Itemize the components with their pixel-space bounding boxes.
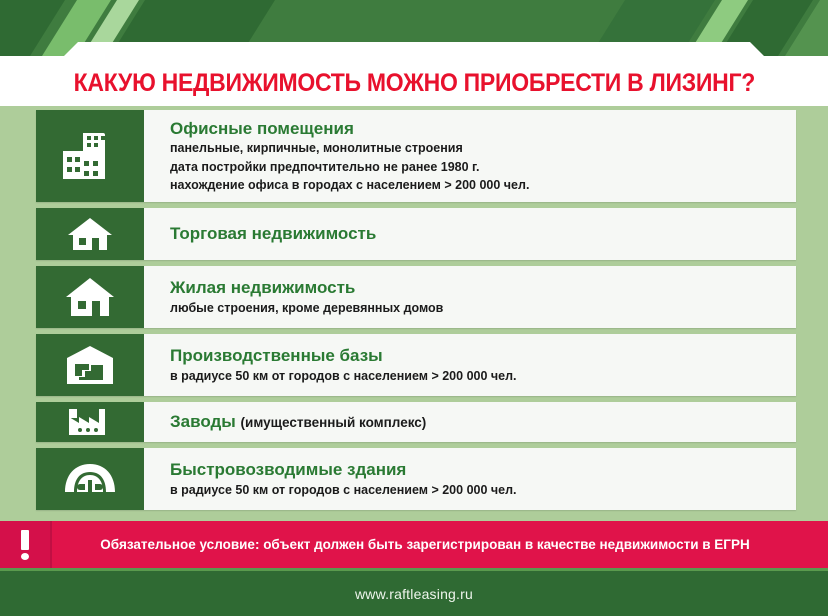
house-icon [36,208,144,260]
list-item[interactable]: Быстровозводимые здания в радиусе 50 км … [36,448,796,510]
list-item-title: Производственные базы [170,345,796,366]
list-item-text: Быстровозводимые здания в радиусе 50 км … [144,448,796,510]
list-item-detail: дата постройки предпочтительно не ранее … [170,158,796,176]
list-item-detail: в радиусе 50 км от городов с населением … [170,481,796,499]
list-item-title-main: Заводы [170,412,236,431]
dome-building-icon [36,448,144,510]
footer-url[interactable]: www.raftleasing.ru [355,586,473,602]
list-item-text: Офисные помещения панельные, кирпичные, … [144,110,796,202]
exclamation-icon [0,521,52,568]
title-band: КАКУЮ НЕДВИЖИМОСТЬ МОЖНО ПРИОБРЕСТИ В ЛИ… [0,60,828,106]
list-item[interactable]: Офисные помещения панельные, кирпичные, … [36,110,796,202]
infographic-poster: КАКУЮ НЕДВИЖИМОСТЬ МОЖНО ПРИОБРЕСТИ В ЛИ… [0,0,828,616]
list-item[interactable]: Производственные базы в радиусе 50 км от… [36,334,796,396]
house-icon [36,266,144,328]
list-item-title: Быстровозводимые здания [170,459,796,480]
list-item-title-suffix: (имущественный комплекс) [241,415,427,430]
list-item[interactable]: Торговая недвижимость [36,208,796,260]
mandatory-condition-bar: Обязательное условие: объект должен быть… [0,521,828,568]
list-item-title: Торговая недвижимость [170,223,796,244]
list-item[interactable]: Жилая недвижимость любые строения, кроме… [36,266,796,328]
list-item-text: Заводы (имущественный комплекс) [144,402,796,442]
footer-bar: www.raftleasing.ru [0,568,828,616]
list-item-detail: любые строения, кроме деревянных домов [170,299,796,317]
list-item[interactable]: Заводы (имущественный комплекс) [36,402,796,442]
mandatory-condition-text: Обязательное условие: объект должен быть… [52,537,828,552]
list-item-text: Производственные базы в радиусе 50 км от… [144,334,796,396]
list-item-title: Заводы (имущественный комплекс) [170,411,796,432]
list-item-text: Жилая недвижимость любые строения, кроме… [144,266,796,328]
list-item-detail: нахождение офиса в городах с населением … [170,176,796,194]
office-buildings-icon [36,110,144,202]
factory-icon [36,402,144,442]
list-item-detail: в радиусе 50 км от городов с населением … [170,367,796,385]
page-title: КАКУЮ НЕДВИЖИМОСТЬ МОЖНО ПРИОБРЕСТИ В ЛИ… [73,69,754,98]
list-item-detail: панельные, кирпичные, монолитные строени… [170,139,796,157]
list-item-text: Торговая недвижимость [144,208,796,260]
exclamation-glyph [21,530,29,560]
list-item-title: Офисные помещения [170,118,796,139]
warehouse-icon [36,334,144,396]
property-type-list: Офисные помещения панельные, кирпичные, … [36,110,796,516]
list-item-title: Жилая недвижимость [170,277,796,298]
